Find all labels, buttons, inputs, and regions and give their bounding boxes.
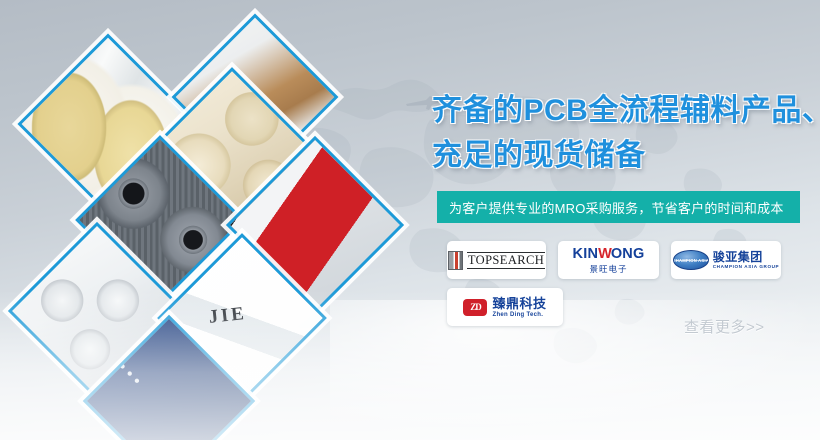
promo-banner: JIE 齐备的PCB全流程辅料产品、 充足的现货储备 为客户提供专业的MRO采购… — [0, 0, 820, 440]
logo-zhen-ding[interactable]: ZD 臻鼎科技 Zhen Ding Tech. — [447, 288, 563, 326]
headline-line-1: 齐备的PCB全流程辅料产品、 — [432, 94, 820, 127]
logo-topsearch[interactable]: TOPSEARCH — [447, 241, 546, 279]
kinwong-w-accent: W — [598, 246, 611, 262]
globe-label: CHAMPION ASIA — [673, 258, 709, 263]
logo-zhen-ding-text-cn: 臻鼎科技 — [492, 297, 546, 310]
logo-champion-text-en: CHAMPION ASIA GROUP — [713, 265, 779, 270]
tile-caption-jie: JIE — [208, 301, 248, 328]
topsearch-mark-icon — [448, 251, 463, 270]
headline-line-2: 充足的现货储备 — [432, 133, 820, 178]
kinwong-kin: KIN — [573, 246, 599, 262]
banner-subtitle-text: 为客户提供专业的MRO采购服务，节省客户的时间和成本 — [449, 198, 784, 217]
logo-zhen-ding-text-en: Zhen Ding Tech. — [492, 312, 546, 318]
banner-subtitle-bar: 为客户提供专业的MRO采购服务，节省客户的时间和成本 — [437, 191, 800, 223]
logo-champion-text-cn: 骏亚集团 — [713, 251, 779, 263]
partner-logos-row-1: TOPSEARCH KINWONG 景旺电子 CHAMPION ASIA 骏亚集… — [447, 241, 807, 279]
logo-kinwong-text-cn: 景旺电子 — [573, 265, 645, 274]
view-more-link[interactable]: 查看更多>> — [684, 316, 765, 337]
logo-kinwong-text-en: KINWONG — [573, 247, 645, 262]
kinwong-ong: ONG — [611, 246, 645, 262]
logo-kinwong[interactable]: KINWONG 景旺电子 — [558, 241, 659, 279]
banner-headline: 齐备的PCB全流程辅料产品、 充足的现货储备 — [432, 88, 820, 178]
globe-icon: CHAMPION ASIA — [673, 250, 709, 270]
logo-champion-asia[interactable]: CHAMPION ASIA 骏亚集团 CHAMPION ASIA GROUP — [671, 241, 781, 279]
product-tile-grid: JIE — [0, 0, 430, 440]
logo-topsearch-text: TOPSEARCH — [467, 252, 545, 269]
zhen-ding-mark-icon: ZD — [463, 299, 487, 316]
